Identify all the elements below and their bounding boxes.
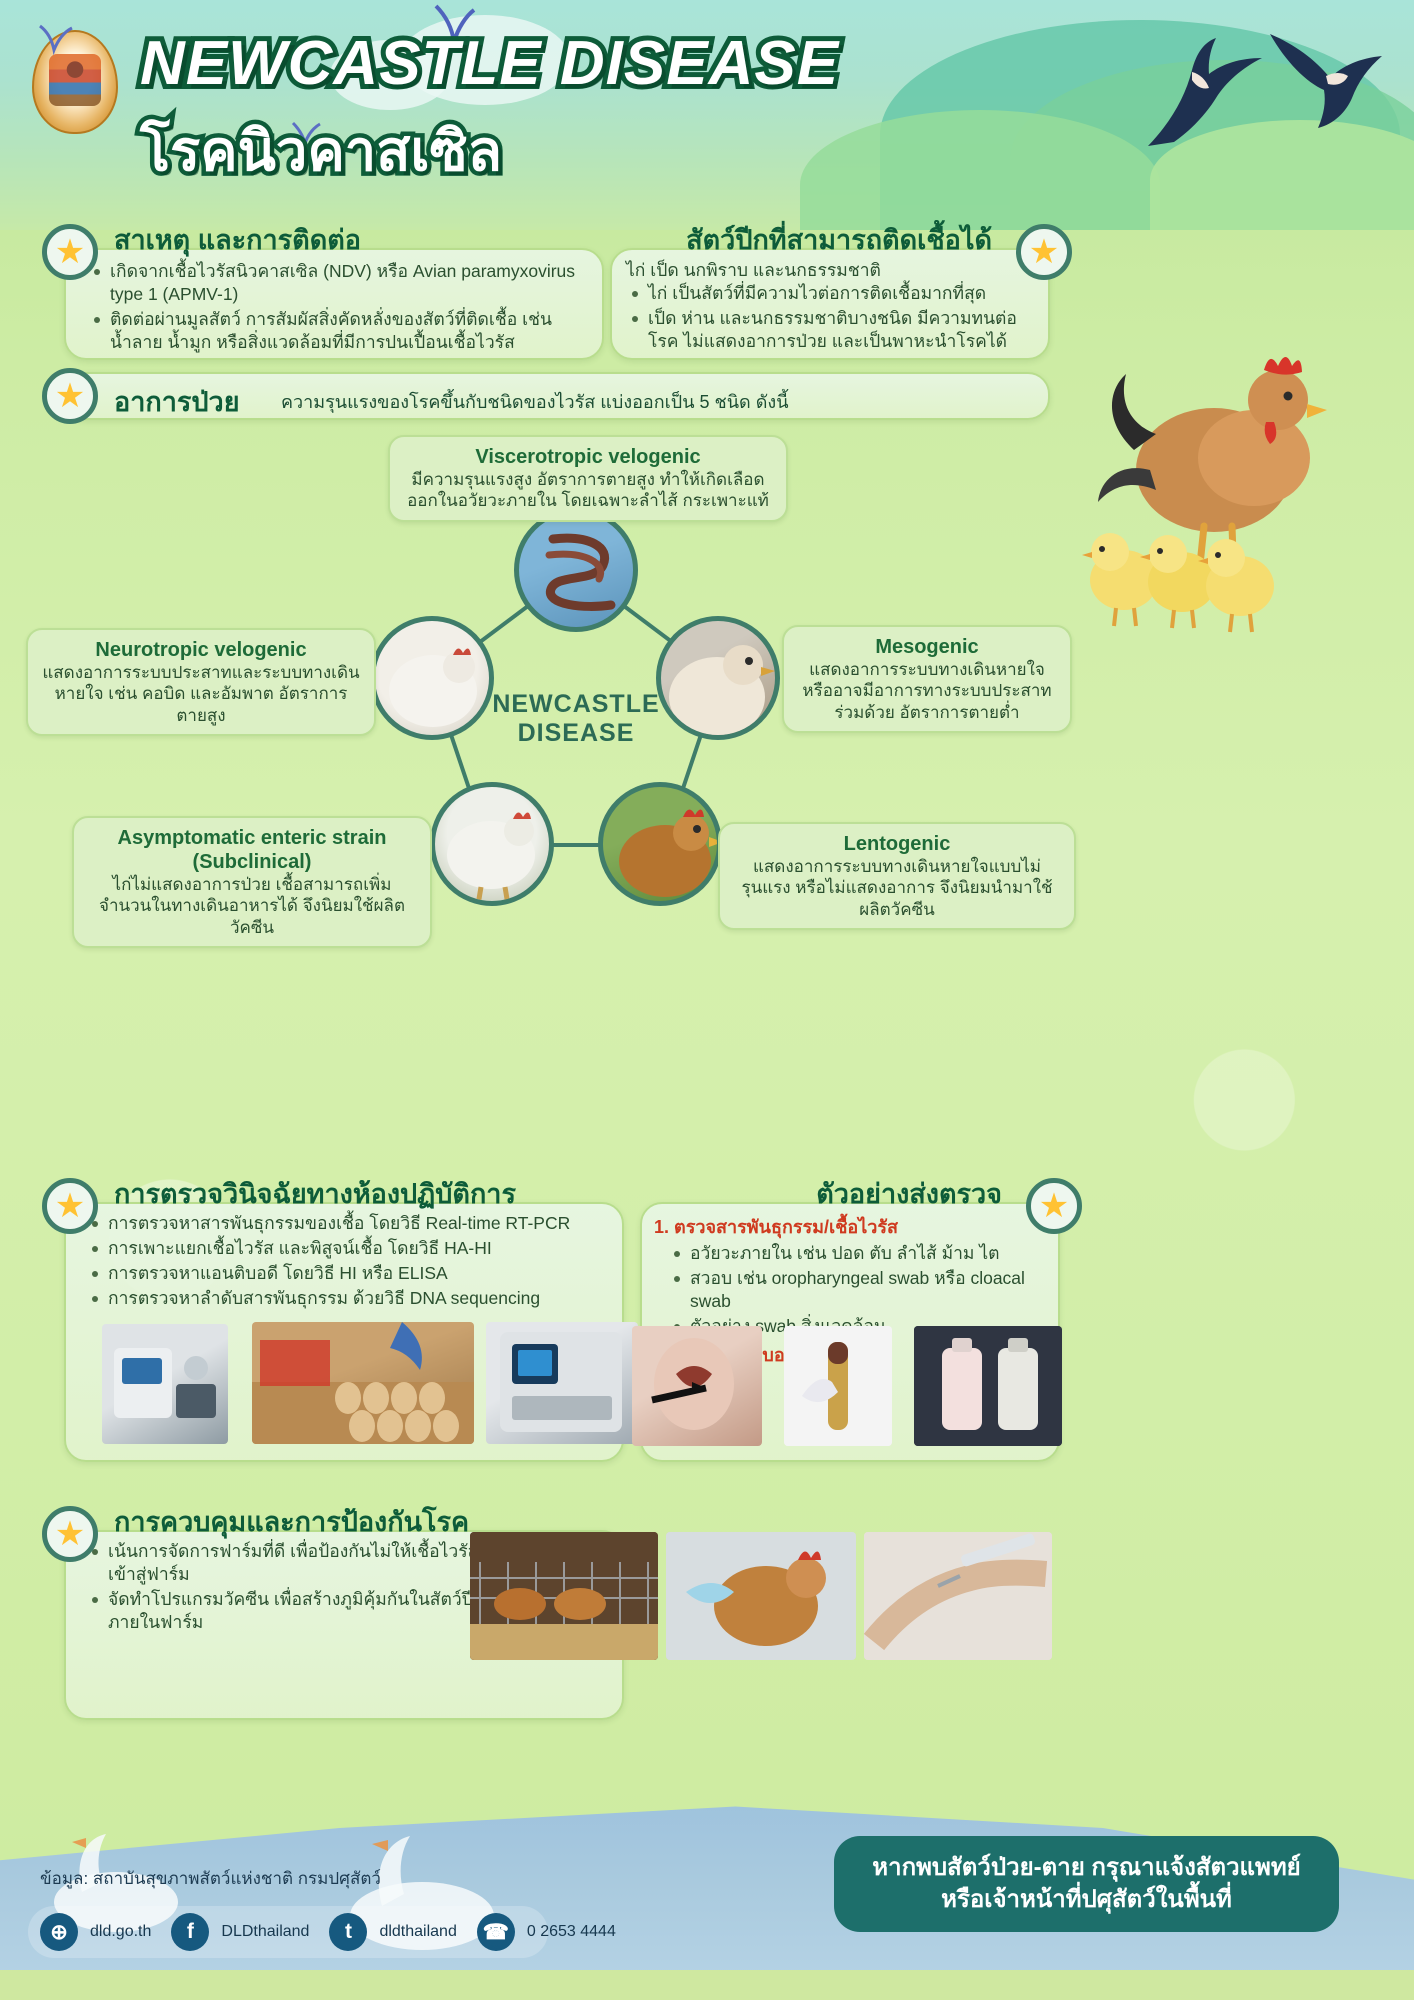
vaccination-photo — [666, 1532, 856, 1660]
page-title-english: NEWCASTLE DISEASE — [140, 28, 839, 99]
star-icon: ★ — [1029, 235, 1059, 269]
list-item: การตรวจหาลำดับสารพันธุกรรม ด้วยวิธี DNA … — [86, 1287, 626, 1310]
source-text: ข้อมูล: สถาบันสุขภาพสัตว์แห่งชาติ กรมปศุ… — [40, 1865, 381, 1892]
layer-cage-photo — [470, 1532, 658, 1660]
list-item: เกิดจากเชื้อไวรัสนิวคาสเซิล (NDV) หรือ A… — [88, 260, 593, 306]
lab-instrument-photo — [102, 1324, 228, 1444]
list-item: ไก่ เป็นสัตว์ที่มีความไวต่อการติดเชื้อมา… — [626, 282, 1044, 305]
list-item: สวอบ เช่น oropharyngeal swab หรือ cloaca… — [668, 1267, 1062, 1313]
brown-hen-photo — [598, 782, 722, 906]
sample-card-heading: ตัวอย่างส่งตรวจ — [816, 1172, 1002, 1215]
node-desc: มีความรุนแรงสูง อัตราการตายสูง ทำให้เกิด… — [404, 469, 772, 512]
star-icon: ★ — [1039, 1189, 1069, 1223]
star-badge-icon: ★ — [1016, 224, 1072, 280]
list-item: อวัยวะภายใน เช่น ปอด ตับ ลำไส้ ม้าม ไต — [668, 1242, 1062, 1265]
star-badge-icon: ★ — [42, 1178, 98, 1234]
phone-icon[interactable]: ☎ — [477, 1913, 515, 1951]
oral-swab-photo — [632, 1326, 762, 1446]
birds-card-lead: ไก่ เป็ด นกพิราบ และนกธรรมชาติ — [626, 256, 881, 284]
tiktok-icon[interactable]: t — [329, 1913, 367, 1951]
contact-bar: ⊕ dld.go.th f DLDthailand t dldthailand … — [28, 1906, 548, 1958]
website-label[interactable]: dld.go.th — [90, 1923, 151, 1941]
swallow-bird-icon — [1130, 28, 1280, 158]
list-item: การตรวจหาสารพันธุกรรมของเชื้อ โดยวิธี Re… — [86, 1212, 626, 1235]
star-icon: ★ — [55, 1517, 85, 1551]
injection-photo — [864, 1532, 1052, 1660]
list-item: เป็ด ห่าน และนกธรรมชาติบางชนิด มีความทนต… — [626, 307, 1044, 353]
node-title: Lentogenic — [734, 832, 1060, 856]
star-badge-icon: ★ — [42, 368, 98, 424]
symptoms-subtitle: ความรุนแรงของโรคขึ้นกับชนิดของไวรัส แบ่ง… — [281, 387, 789, 416]
star-badge-icon: ★ — [42, 224, 98, 280]
diagram-box-neurotropic: Neurotropic velogenic แสดงอาการระบบประสา… — [26, 628, 376, 736]
white-chicken-photo — [370, 616, 494, 740]
hen-and-chicks-illustration — [1064, 330, 1394, 650]
list-item: ติดต่อผ่านมูลสัตว์ การสัมผัสสิ่งคัดหลั่ง… — [88, 308, 593, 354]
facebook-label[interactable]: DLDthailand — [221, 1923, 309, 1941]
node-desc: แสดงอาการระบบประสาทและระบบทางเดินหายใจ เ… — [42, 662, 360, 726]
star-icon: ★ — [55, 379, 85, 413]
birds-bullet-list: ไก่ เป็นสัตว์ที่มีความไวต่อการติดเชื้อมา… — [626, 282, 1044, 355]
list-item: เน้นการจัดการฟาร์มที่ดี เพื่อป้องกันไม่ใ… — [86, 1540, 506, 1586]
sample-bottles-photo — [914, 1326, 1062, 1446]
tiktok-label[interactable]: dldthailand — [379, 1923, 456, 1941]
diagram-center-label: NEWCASTLE DISEASE — [476, 690, 676, 748]
sample-card: ★ ตัวอย่างส่งตรวจ 1. ตรวจสารพันธุกรรม/เช… — [640, 1202, 1060, 1462]
cause-and-transmission-card: ★ สาเหตุ และการติดต่อ เกิดจากเชื้อไวรัสน… — [64, 248, 604, 360]
star-icon: ★ — [55, 235, 85, 269]
node-title: Asymptomatic enteric strain (Subclinical… — [88, 826, 416, 874]
cause-bullet-list: เกิดจากเชื้อไวรัสนิวคาสเซิล (NDV) หรือ A… — [88, 260, 593, 356]
facebook-icon[interactable]: f — [171, 1913, 209, 1951]
white-hen-photo — [430, 782, 554, 906]
pcr-machine-photo — [486, 1322, 638, 1444]
diagram-box-viscerotropic: Viscerotropic velogenic มีความรุนแรงสูง … — [388, 435, 788, 522]
egg-inoculation-photo — [252, 1322, 474, 1444]
diagram-box-lentogenic: Lentogenic แสดงอาการระบบทางเดินหายใจแบบไ… — [718, 822, 1076, 930]
infographic-poster: NEWCASTLE DISEASE โรคนิวคาสเซิล ★ สาเหตุ… — [0, 0, 1414, 2000]
alert-banner: หากพบสัตว์ป่วย-ตาย กรุณาแจ้งสัตวแพทย์ หร… — [834, 1836, 1339, 1932]
lab-bullet-list: การตรวจหาสารพันธุกรรมของเชื้อ โดยวิธี Re… — [86, 1212, 626, 1312]
globe-icon[interactable]: ⊕ — [40, 1913, 78, 1951]
node-desc: แสดงอาการระบบทางเดินหายใจแบบไม่รุนแรง หร… — [734, 856, 1060, 920]
node-desc: ไก่ไม่แสดงอาการป่วย เชื้อสามารถเพิ่มจำนว… — [88, 874, 416, 938]
lab-card-heading: การตรวจวินิจฉัยทางห้องปฏิบัติการ — [114, 1172, 516, 1215]
node-title: Neurotropic velogenic — [42, 638, 360, 662]
phone-label[interactable]: 0 2653 4444 — [527, 1923, 616, 1941]
poster-header: NEWCASTLE DISEASE โรคนิวคาสเซิล — [0, 0, 1414, 230]
diagram-box-asymptomatic: Asymptomatic enteric strain (Subclinical… — [72, 816, 432, 948]
control-card-heading: การควบคุมและการป้องกันโรค — [114, 1500, 469, 1543]
node-desc: แสดงอาการระบบทางเดินหายใจ หรืออาจมีอาการ… — [798, 659, 1056, 723]
list-item: การตรวจหาแอนติบอดี โดยวิธี HI หรือ ELISA — [86, 1262, 626, 1285]
susceptible-birds-card: ★ สัตว์ปีกที่สามารถติดเชื้อได้ ไก่ เป็ด … — [610, 248, 1050, 360]
node-title: Viscerotropic velogenic — [404, 445, 772, 469]
chick-head-photo — [656, 616, 780, 740]
virus-type-diagram: NEWCASTLE DISEASE Viscerotropic velogeni… — [0, 420, 1100, 930]
small-bird-icon — [36, 22, 76, 62]
control-bullet-list: เน้นการจัดการฟาร์มที่ดี เพื่อป้องกันไม่ใ… — [86, 1540, 506, 1636]
sample-group-1-list: อวัยวะภายใน เช่น ปอด ตับ ลำไส้ ม้าม ไต ส… — [668, 1242, 1062, 1338]
star-badge-icon: ★ — [42, 1506, 98, 1562]
symptoms-header-card: ★ อาการป่วย ความรุนแรงของโรคขึ้นกับชนิดข… — [64, 372, 1050, 420]
blood-tube-photo — [784, 1326, 892, 1446]
lab-diagnosis-card: ★ การตรวจวินิจฉัยทางห้องปฏิบัติการ การตร… — [64, 1202, 624, 1462]
list-item: การเพาะแยกเชื้อไวรัส และพิสูจน์เชื้อ โดย… — [86, 1237, 626, 1260]
alert-line-1: หากพบสัตว์ป่วย-ตาย กรุณาแจ้งสัตวแพทย์ — [872, 1852, 1300, 1884]
intestine-lesion-photo — [514, 508, 638, 632]
alert-line-2: หรือเจ้าหน้าที่ปศุสัตว์ในพื้นที่ — [941, 1884, 1232, 1916]
star-badge-icon: ★ — [1026, 1178, 1082, 1234]
diagram-box-mesogenic: Mesogenic แสดงอาการระบบทางเดินหายใจ หรือ… — [782, 625, 1072, 733]
cause-card-heading: สาเหตุ และการติดต่อ — [114, 218, 361, 261]
swallow-bird-icon — [1260, 16, 1400, 136]
star-icon: ★ — [55, 1189, 85, 1223]
birds-card-heading: สัตว์ปีกที่สามารถติดเชื้อได้ — [686, 218, 992, 261]
page-title-thai: โรคนิวคาสเซิล — [140, 106, 502, 195]
sample-group-number: 1. ตรวจสารพันธุกรรม/เชื้อไวรัส — [654, 1212, 1062, 1241]
node-title: Mesogenic — [798, 635, 1056, 659]
symptoms-heading: อาการป่วย — [114, 380, 240, 423]
list-item: จัดทำโปรแกรมวัคซีน เพื่อสร้างภูมิคุ้มกัน… — [86, 1588, 506, 1634]
footer-grass-strip — [0, 1970, 1414, 2000]
